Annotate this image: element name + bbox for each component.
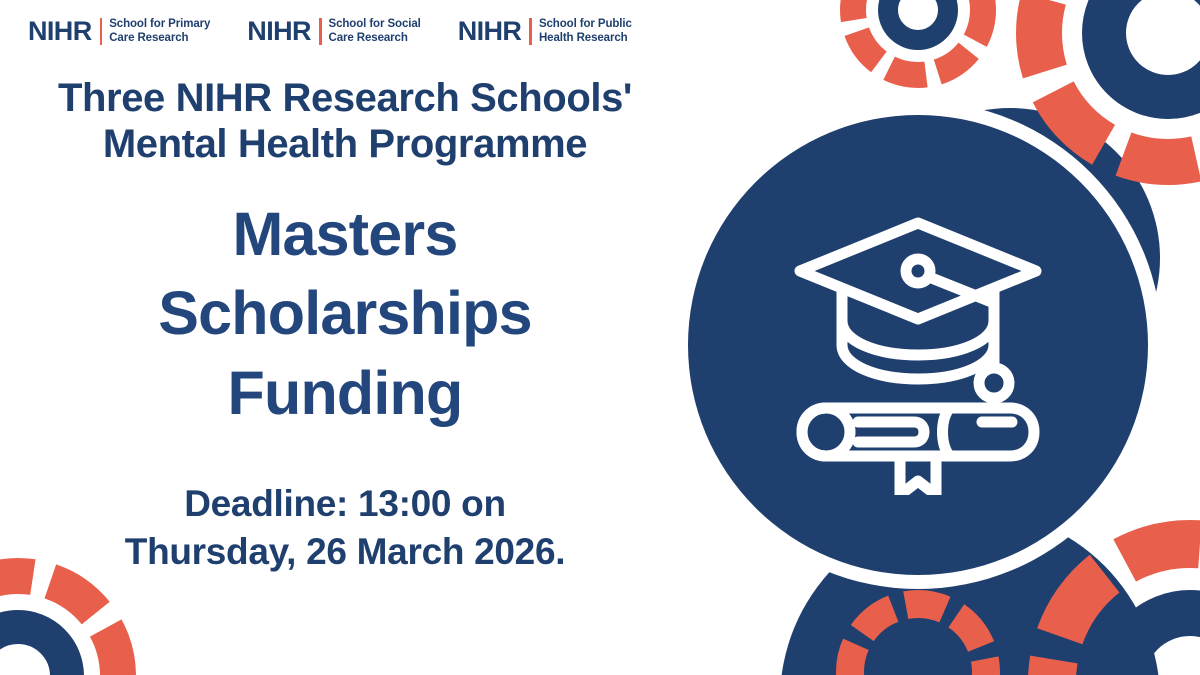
logo-subtitle: School for Primary Care Research — [109, 18, 210, 45]
title-line-3: Funding — [25, 354, 665, 433]
deadline-line-1: Deadline: 13:00 on — [25, 480, 665, 528]
title-line-1: Masters — [25, 195, 665, 274]
text-column: Three NIHR Research Schools' Mental Heal… — [0, 76, 690, 576]
nihr-wordmark: NIHR — [28, 18, 92, 45]
page-title: Masters Scholarships Funding — [25, 195, 665, 433]
nihr-wordmark: NIHR — [458, 18, 522, 45]
logo-subtitle: School for Social Care Research — [329, 18, 421, 45]
headline-line-1: Three NIHR Research Schools' — [25, 76, 665, 122]
logo-divider-rule — [319, 18, 322, 45]
logo-divider-rule — [100, 18, 103, 45]
logo-subtitle-line2: Care Research — [109, 32, 188, 44]
graduation-cap-and-diploma-icon — [768, 195, 1068, 495]
logo-school-for-primary-care-research: NIHR School for Primary Care Research — [28, 18, 210, 45]
ring-bottom-left — [0, 576, 118, 675]
logo-subtitle-line2: Care Research — [329, 32, 408, 44]
ring-top-center-right — [853, 0, 983, 75]
logo-school-for-social-care-research: NIHR School for Social Care Research — [247, 18, 420, 45]
logo-subtitle: School for Public Health Research — [539, 18, 632, 45]
nihr-wordmark: NIHR — [247, 18, 311, 45]
logo-divider-rule — [529, 18, 532, 45]
deadline-text: Deadline: 13:00 on Thursday, 26 March 20… — [25, 480, 665, 576]
headline-line-2: Mental Health Programme — [25, 122, 665, 168]
logo-subtitle-line1: School for Public — [539, 18, 632, 30]
ring-bottom-center — [850, 604, 986, 675]
poster-canvas: NIHR School for Primary Care Research NI… — [0, 0, 1200, 675]
deadline-line-2: Thursday, 26 March 2026. — [25, 528, 665, 576]
title-line-2: Scholarships — [25, 274, 665, 353]
logo-strip: NIHR School for Primary Care Research NI… — [28, 18, 669, 45]
logo-subtitle-line2: Health Research — [539, 32, 628, 44]
emblem — [688, 115, 1148, 575]
programme-headline: Three NIHR Research Schools' Mental Heal… — [25, 76, 665, 167]
logo-subtitle-line1: School for Social — [329, 18, 421, 30]
logo-subtitle-line1: School for Primary — [109, 18, 210, 30]
logo-school-for-public-health-research: NIHR School for Public Health Research — [458, 18, 632, 45]
